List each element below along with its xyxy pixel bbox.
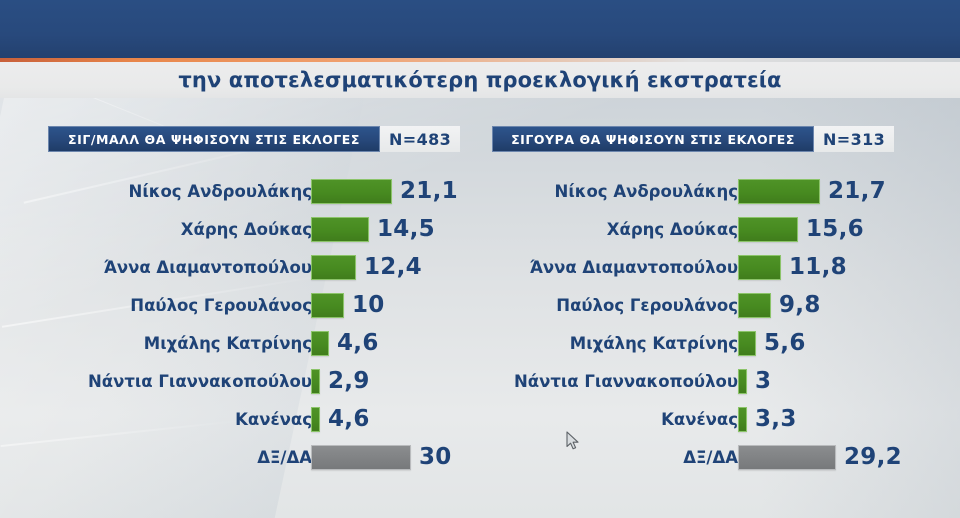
bar-gray [311, 445, 411, 470]
bar-gray [738, 445, 836, 470]
bar-row-label: ΔΞ/ΔΑ [257, 438, 312, 476]
bar-and-value: 10 [311, 286, 385, 324]
bar-row: Κανένας4,6 [48, 400, 480, 438]
bar-green [738, 255, 781, 280]
bar-row: Νίκος Ανδρουλάκης21,1 [48, 172, 480, 210]
bar-value-label: 10 [352, 292, 385, 318]
column-header-left: ΣΙΓ/ΜΑΛΛ ΘΑ ΨΗΦΙΣΟΥΝ ΣΤΙΣ ΕΚΛΟΓΕΣ N=483 [48, 126, 480, 152]
bar-value-label: 11,8 [789, 254, 847, 280]
bar-row-label: Κανένας [235, 400, 312, 438]
bar-row: Άννα Διαμαντοπούλου12,4 [48, 248, 480, 286]
bar-green [311, 293, 344, 318]
bar-row-label: Μιχάλης Κατρίνης [144, 324, 312, 362]
bar-row-label: ΔΞ/ΔΑ [683, 438, 738, 476]
segment-label-right: ΣΙΓΟΥΡΑ ΘΑ ΨΗΦΙΣΟΥΝ ΣΤΙΣ ΕΚΛΟΓΕΣ [511, 132, 795, 147]
column-header-right: ΣΙΓΟΥΡΑ ΘΑ ΨΗΦΙΣΟΥΝ ΣΤΙΣ ΕΚΛΟΓΕΣ N=313 [492, 126, 924, 152]
bar-row-label: Μιχάλης Κατρίνης [570, 324, 738, 362]
bar-green [738, 293, 771, 318]
bar-row: Νάντια Γιαννακοπούλου3 [492, 362, 924, 400]
bar-green [311, 217, 369, 242]
bar-and-value: 3,3 [738, 400, 797, 438]
bar-value-label: 15,6 [806, 216, 864, 242]
bar-value-label: 4,6 [328, 406, 370, 432]
bar-row: Κανένας3,3 [492, 400, 924, 438]
segment-label-left: ΣΙΓ/ΜΑΛΛ ΘΑ ΨΗΦΙΣΟΥΝ ΣΤΙΣ ΕΚΛΟΓΕΣ [68, 132, 360, 147]
bar-row-label: Κανένας [661, 400, 738, 438]
bar-row-label: Άννα Διαμαντοπούλου [530, 248, 738, 286]
bar-row: ΔΞ/ΔΑ29,2 [492, 438, 924, 476]
bar-value-label: 2,9 [328, 368, 370, 394]
bar-and-value: 15,6 [738, 210, 864, 248]
bar-row: Άννα Διαμαντοπούλου11,8 [492, 248, 924, 286]
bar-value-label: 14,5 [377, 216, 435, 242]
bar-green [738, 217, 798, 242]
bar-value-label: 4,6 [337, 330, 379, 356]
segment-label-bar-left: ΣΙΓ/ΜΑΛΛ ΘΑ ΨΗΦΙΣΟΥΝ ΣΤΙΣ ΕΚΛΟΓΕΣ [48, 126, 380, 152]
bar-row: Μιχάλης Κατρίνης5,6 [492, 324, 924, 362]
bar-row-label: Παύλος Γερουλάνος [556, 286, 738, 324]
bar-green [311, 369, 320, 394]
bar-row: Παύλος Γερουλάνος9,8 [492, 286, 924, 324]
bar-green [311, 179, 392, 204]
bar-value-label: 3 [755, 368, 771, 394]
bar-row: Παύλος Γερουλάνος10 [48, 286, 480, 324]
bar-and-value: 4,6 [311, 324, 379, 362]
bar-green [738, 179, 820, 204]
bar-and-value: 29,2 [738, 438, 902, 476]
bar-and-value: 21,7 [738, 172, 886, 210]
bar-green [738, 331, 756, 356]
bar-green [311, 331, 329, 356]
bar-row: ΔΞ/ΔΑ30 [48, 438, 480, 476]
title-banner [0, 0, 960, 58]
sample-size-badge-right: N=313 [814, 126, 894, 152]
bar-and-value: 5,6 [738, 324, 806, 362]
bar-row-label: Νίκος Ανδρουλάκης [555, 172, 738, 210]
bar-row: Νάντια Γιαννακοπούλου2,9 [48, 362, 480, 400]
bar-row-label: Χάρης Δούκας [181, 210, 312, 248]
mouse-cursor-icon [566, 431, 582, 453]
segment-label-bar-right: ΣΙΓΟΥΡΑ ΘΑ ΨΗΦΙΣΟΥΝ ΣΤΙΣ ΕΚΛΟΓΕΣ [492, 126, 814, 152]
bar-value-label: 9,8 [779, 292, 821, 318]
bar-row-label: Νάντια Γιαννακοπούλου [514, 362, 738, 400]
bar-and-value: 4,6 [311, 400, 370, 438]
bar-green [738, 407, 747, 432]
bar-value-label: 12,4 [364, 254, 422, 280]
bar-and-value: 9,8 [738, 286, 821, 324]
bar-row: Νίκος Ανδρουλάκης21,7 [492, 172, 924, 210]
bar-value-label: 3,3 [755, 406, 797, 432]
sample-size-badge-left: N=483 [380, 126, 460, 152]
page-subtitle: την αποτελεσματικότερη προεκλογική εκστρ… [0, 62, 960, 98]
bar-and-value: 30 [311, 438, 452, 476]
bar-rows-left: Νίκος Ανδρουλάκης21,1Χάρης Δούκας14,5Άνν… [48, 172, 480, 476]
bar-row-label: Νίκος Ανδρουλάκης [129, 172, 312, 210]
bar-and-value: 21,1 [311, 172, 458, 210]
chart-column-right: ΣΙΓΟΥΡΑ ΘΑ ΨΗΦΙΣΟΥΝ ΣΤΙΣ ΕΚΛΟΓΕΣ N=313 Ν… [492, 126, 924, 152]
bar-value-label: 29,2 [844, 444, 902, 470]
bar-green [311, 255, 356, 280]
bar-value-label: 30 [419, 444, 452, 470]
bar-rows-right: Νίκος Ανδρουλάκης21,7Χάρης Δούκας15,6Άνν… [492, 172, 924, 476]
bar-value-label: 21,1 [400, 178, 458, 204]
bar-and-value: 11,8 [738, 248, 847, 286]
bar-row-label: Νάντια Γιαννακοπούλου [88, 362, 312, 400]
bar-row-label: Άννα Διαμαντοπούλου [104, 248, 312, 286]
bar-row: Χάρης Δούκας14,5 [48, 210, 480, 248]
bar-green [738, 369, 747, 394]
bar-row-label: Παύλος Γερουλάνος [130, 286, 312, 324]
bar-and-value: 12,4 [311, 248, 422, 286]
bar-row-label: Χάρης Δούκας [607, 210, 738, 248]
bar-and-value: 3 [738, 362, 771, 400]
bar-and-value: 14,5 [311, 210, 435, 248]
bar-green [311, 407, 320, 432]
bar-and-value: 2,9 [311, 362, 370, 400]
chart-column-left: ΣΙΓ/ΜΑΛΛ ΘΑ ΨΗΦΙΣΟΥΝ ΣΤΙΣ ΕΚΛΟΓΕΣ N=483 … [48, 126, 480, 152]
bar-row: Μιχάλης Κατρίνης4,6 [48, 324, 480, 362]
bar-row: Χάρης Δούκας15,6 [492, 210, 924, 248]
bar-value-label: 5,6 [764, 330, 806, 356]
bar-value-label: 21,7 [828, 178, 886, 204]
